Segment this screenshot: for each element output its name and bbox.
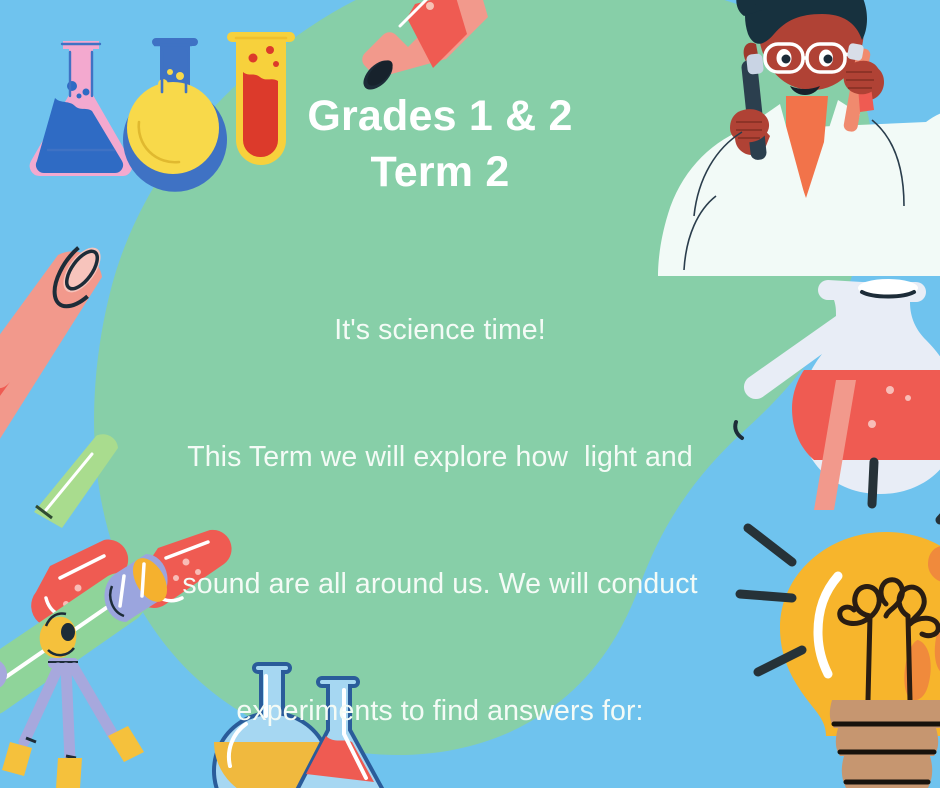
test-tube-yellow-icon <box>227 32 295 165</box>
light-bulb-base-icon <box>830 700 940 788</box>
poster-artwork <box>0 0 940 788</box>
science-poster: Grades 1 & 2 Term 2 It's science time! T… <box>0 0 940 788</box>
